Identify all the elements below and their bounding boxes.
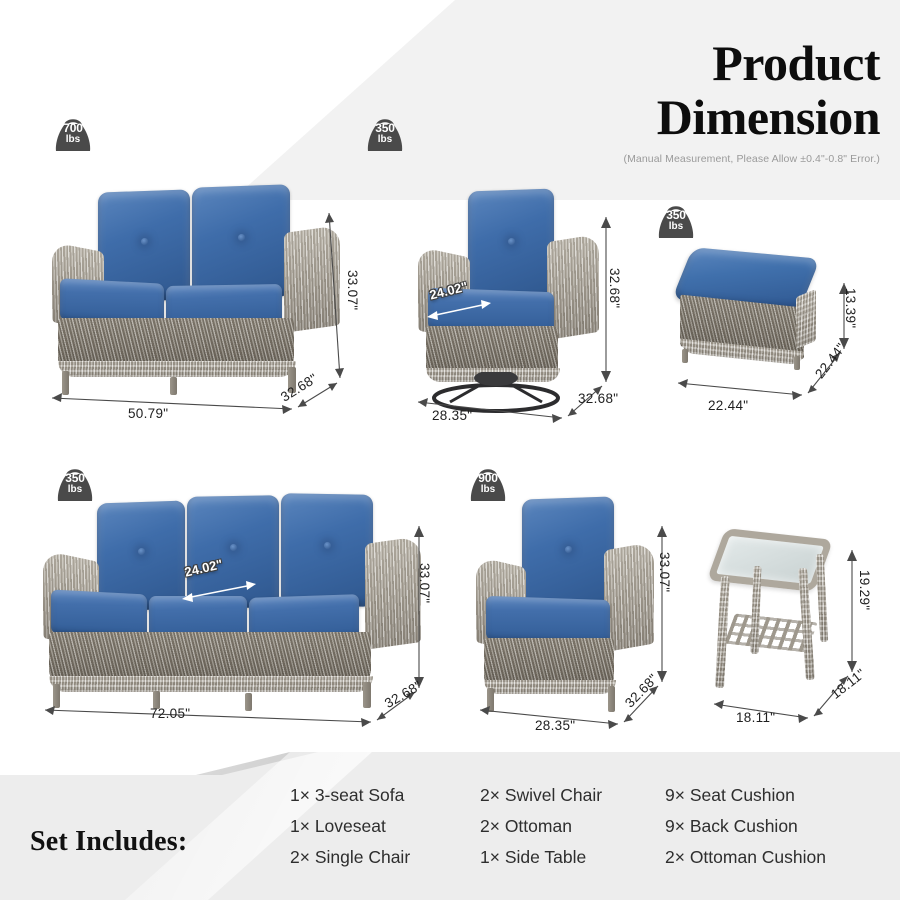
swivel-chair-depth-label: 32.68"	[578, 391, 618, 406]
badge-capacity-unit: lbs	[653, 222, 699, 232]
weight-capacity-badge-ottoman: 350 lbs	[653, 200, 699, 240]
list-item: 1× Loveseat	[290, 811, 480, 842]
single-chair-height-label: 33.07"	[657, 552, 672, 592]
badge-capacity-value: 700	[50, 122, 96, 134]
swivel-chair-width-label: 28.35"	[432, 408, 472, 423]
set-includes-column-1: 1× 3-seat Sofa 1× Loveseat 2× Single Cha…	[290, 780, 480, 873]
list-item: 2× Ottoman	[480, 811, 665, 842]
page-title: Product Dimension	[560, 36, 880, 144]
sofa-height-label: 33.07"	[417, 563, 432, 603]
ottoman-height-label: 13.39"	[843, 288, 858, 328]
list-item: 1× Side Table	[480, 842, 665, 873]
list-item: 1× 3-seat Sofa	[290, 780, 480, 811]
set-includes-columns: 1× 3-seat Sofa 1× Loveseat 2× Single Cha…	[290, 780, 890, 873]
single-chair-width-label: 28.35"	[535, 718, 575, 733]
loveseat-height-label: 33.07"	[345, 270, 360, 310]
page-title-line2: Dimension	[560, 90, 880, 144]
badge-capacity-unit: lbs	[362, 135, 408, 145]
ottoman-width-label: 22.44"	[708, 398, 748, 413]
set-includes-label: Set Includes:	[30, 826, 187, 858]
header: Product Dimension (Manual Measurement, P…	[560, 36, 880, 165]
badge-capacity-value: 350	[653, 209, 699, 221]
side-table-height-label: 19.29"	[857, 570, 872, 610]
side-table-dimension-lines	[706, 528, 900, 738]
measurement-disclaimer: (Manual Measurement, Please Allow ±0.4"-…	[560, 153, 880, 165]
list-item: 2× Ottoman Cushion	[665, 842, 890, 873]
sofa-width-label: 72.05"	[150, 706, 190, 721]
swivel-chair-height-label: 32.68"	[607, 268, 622, 308]
badge-capacity-value: 350	[52, 472, 98, 484]
set-includes-column-3: 9× Seat Cushion 9× Back Cushion 2× Ottom…	[665, 780, 890, 873]
list-item: 2× Single Chair	[290, 842, 480, 873]
weight-capacity-badge-loveseat: 700 lbs	[50, 113, 96, 153]
single-chair-dimension-lines	[470, 488, 700, 738]
loveseat-dimension-lines	[40, 185, 380, 435]
list-item: 9× Back Cushion	[665, 811, 890, 842]
badge-capacity-value: 350	[362, 122, 408, 134]
set-includes-column-2: 2× Swivel Chair 2× Ottoman 1× Side Table	[480, 780, 665, 873]
badge-capacity-unit: lbs	[50, 135, 96, 145]
loveseat-width-label: 50.79"	[128, 406, 168, 421]
badge-capacity-value: 900	[465, 472, 511, 484]
ottoman-dimension-lines	[668, 253, 898, 433]
page-title-line1: Product	[560, 36, 880, 90]
side-table-width-label: 18.11"	[736, 710, 775, 725]
list-item: 9× Seat Cushion	[665, 780, 890, 811]
weight-capacity-badge-swivel-chair: 350 lbs	[362, 113, 408, 153]
product-dimension-infographic: Product Dimension (Manual Measurement, P…	[0, 0, 900, 900]
list-item: 2× Swivel Chair	[480, 780, 665, 811]
